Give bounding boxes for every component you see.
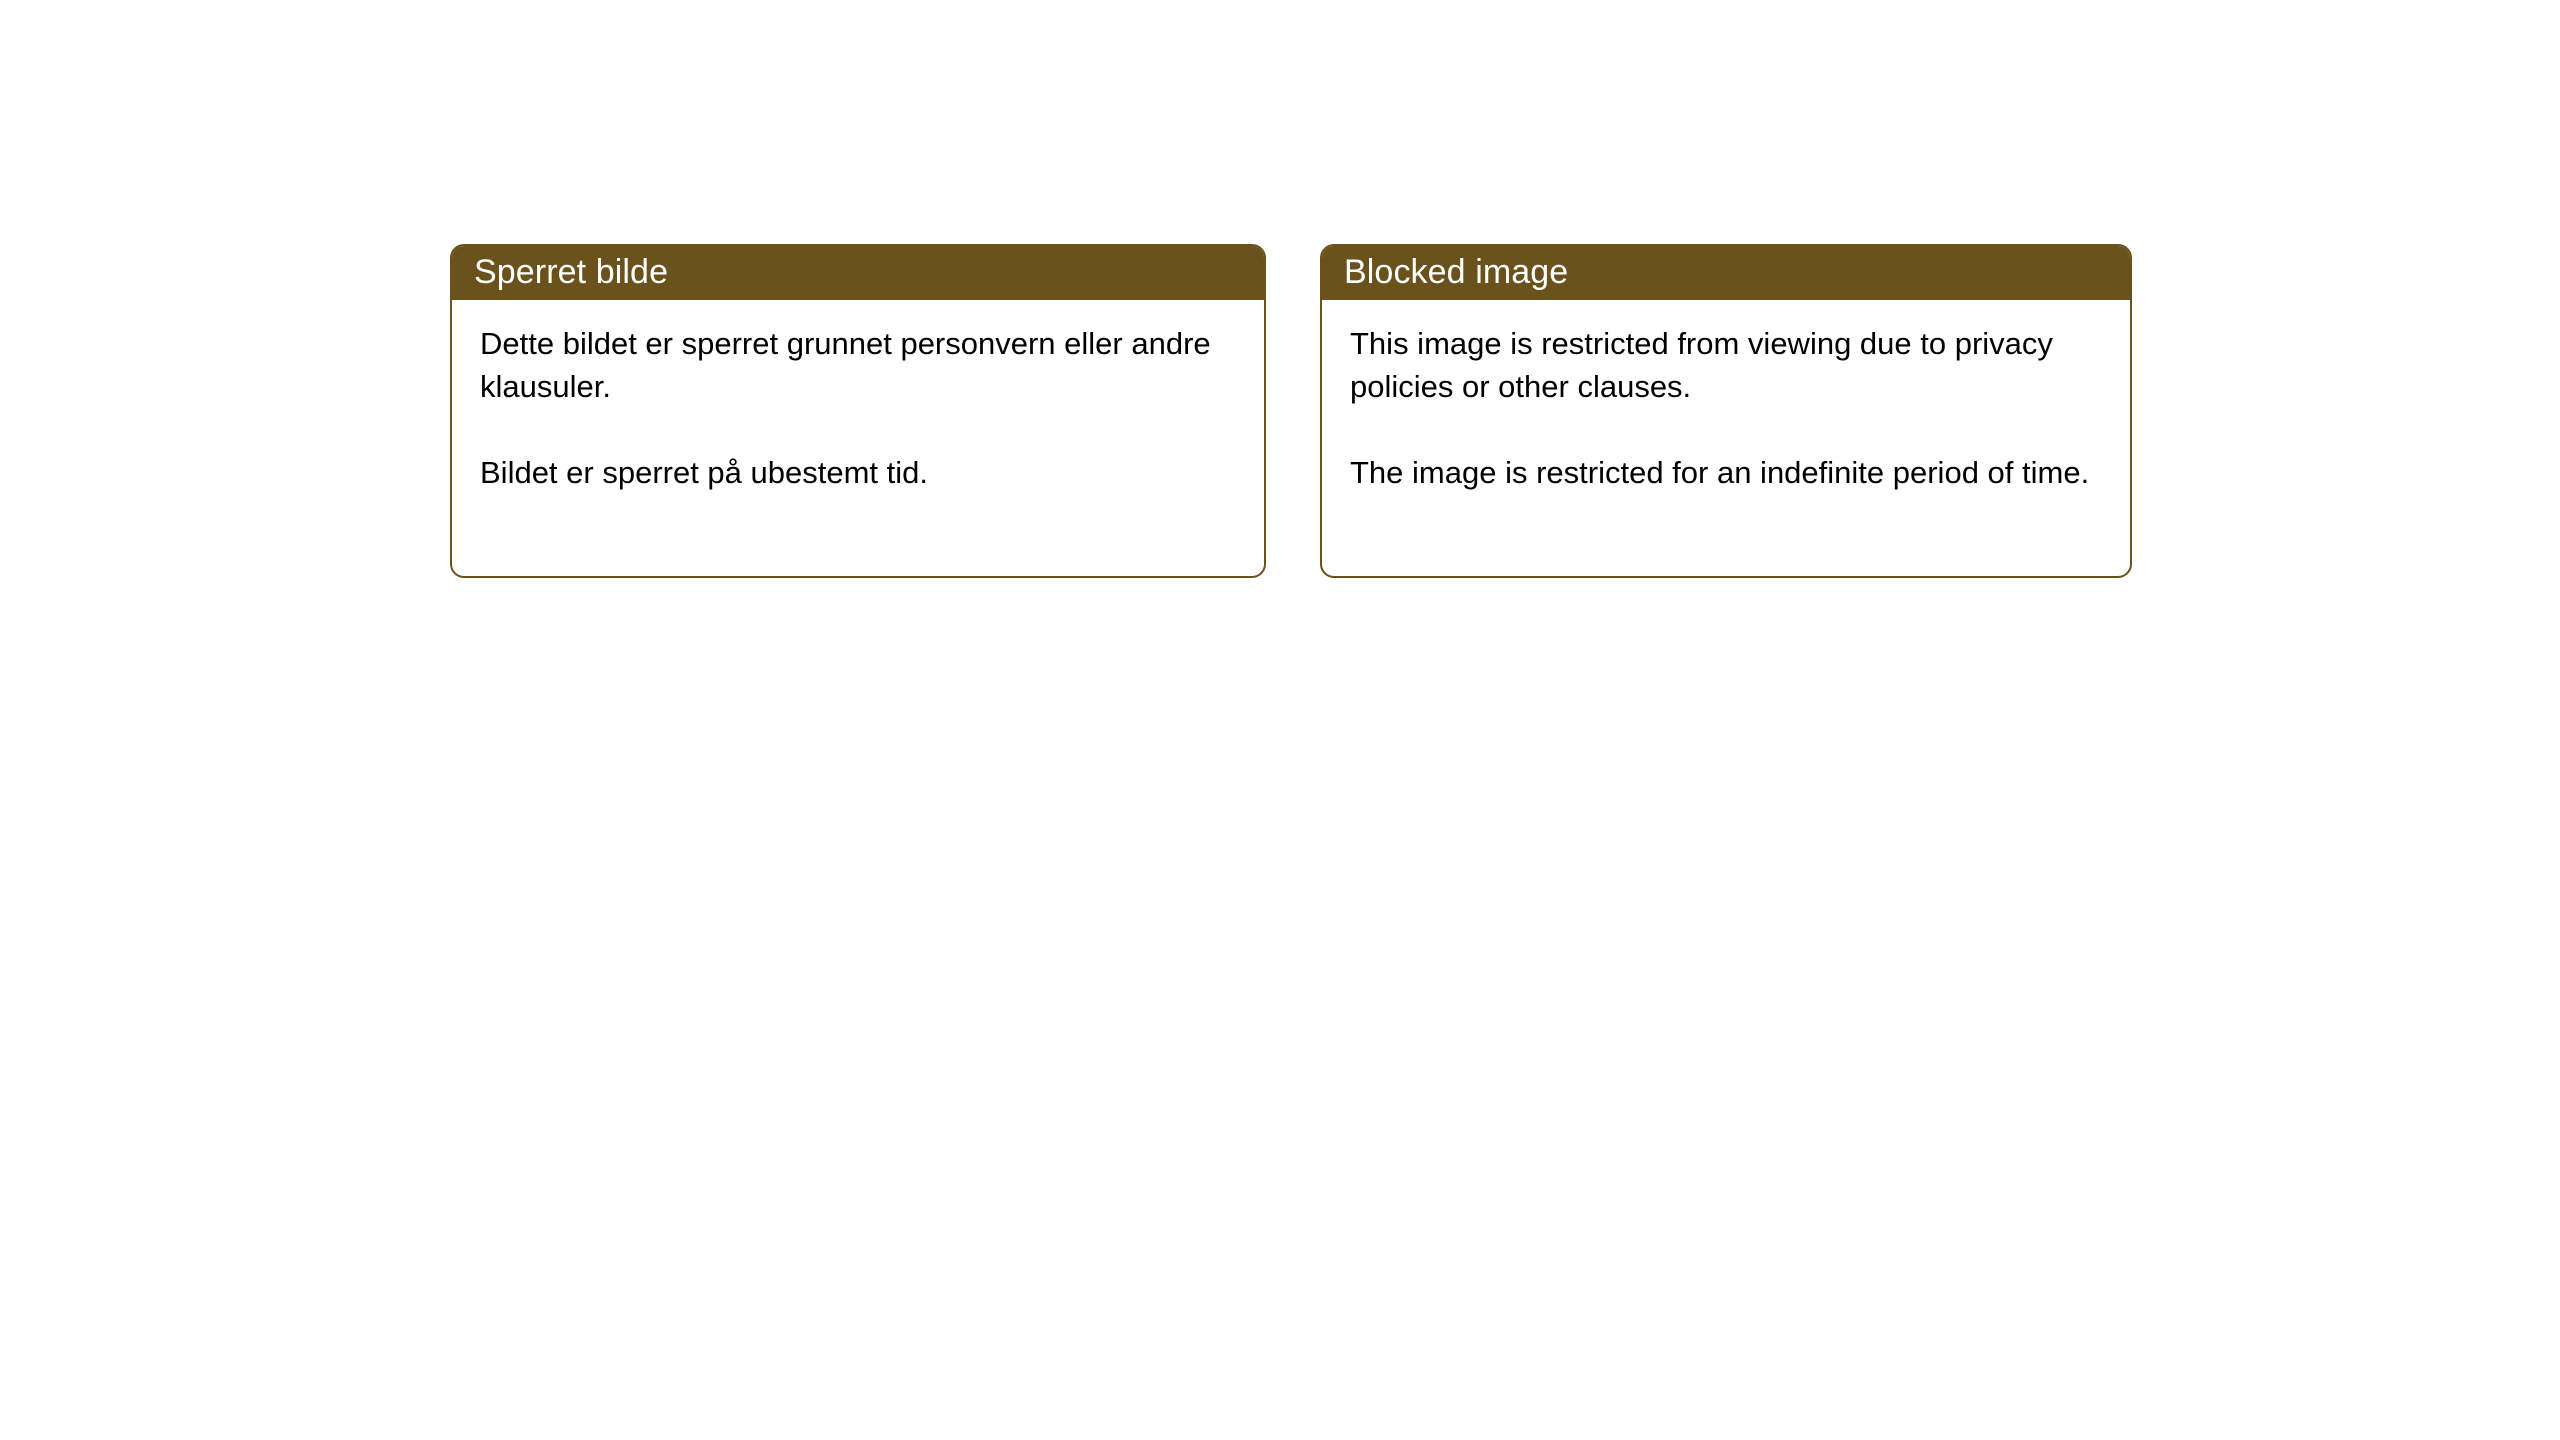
card-paragraph: Dette bildet er sperret grunnet personve… [480, 322, 1238, 408]
card-title-norwegian: Sperret bilde [474, 255, 668, 289]
card-paragraph: The image is restricted for an indefinit… [1350, 451, 2104, 494]
card-header-norwegian: Sperret bilde [450, 244, 1266, 300]
card-paragraph: This image is restricted from viewing du… [1350, 322, 2104, 408]
page-canvas: Sperret bilde Dette bildet er sperret gr… [0, 0, 2560, 1440]
blocked-image-notice-norwegian: Sperret bilde Dette bildet er sperret gr… [450, 244, 1266, 578]
card-paragraph: Bildet er sperret på ubestemt tid. [480, 451, 1238, 494]
card-body-english: This image is restricted from viewing du… [1322, 300, 2130, 494]
blocked-image-notice-english: Blocked image This image is restricted f… [1320, 244, 2132, 578]
card-header-english: Blocked image [1320, 244, 2132, 300]
card-title-english: Blocked image [1344, 255, 1568, 289]
card-body-norwegian: Dette bildet er sperret grunnet personve… [452, 300, 1264, 494]
